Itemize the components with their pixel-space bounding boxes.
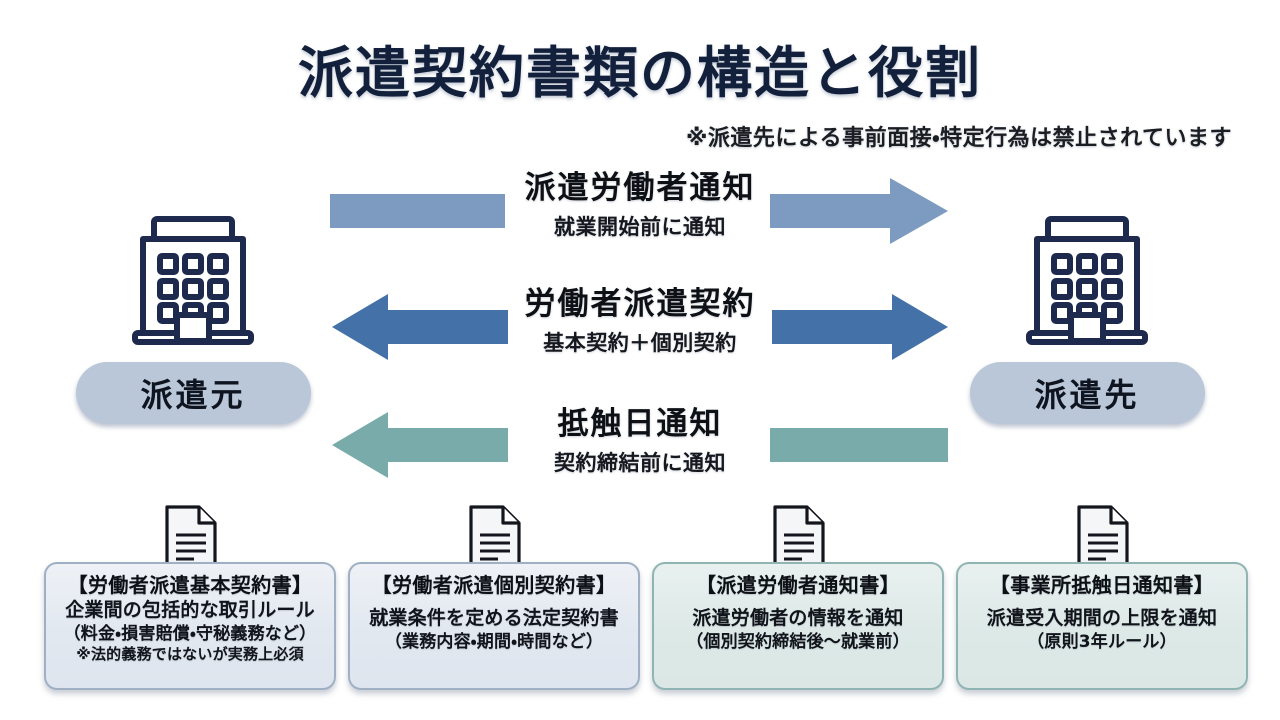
- entity-left-pill: 派遣元: [76, 362, 311, 424]
- entity-left-label: 派遣元: [140, 370, 245, 416]
- document-card-line: 就業条件を定める法定契約書: [350, 606, 638, 631]
- document-card-line: （料金・損害賠償・守秘義務など）: [46, 623, 334, 645]
- entity-right: 派遣先: [962, 200, 1212, 424]
- document-card-title: 【派遣労働者通知書】: [654, 573, 942, 598]
- document-card-line: 派遣労働者の情報を通知: [654, 606, 942, 631]
- header-note: ※派遣先による事前面接・特定行為は禁止されています: [686, 120, 1232, 152]
- office-building-icon: [68, 200, 318, 350]
- office-building-icon: [962, 200, 1212, 350]
- infographic-slide: 派遣契約書類の構造と役割 ※派遣先による事前面接・特定行為は禁止されています: [0, 0, 1280, 720]
- document-card: 【事業所抵触日通知書】 派遣受入期間の上限を通知 （原則3年ルール）: [956, 562, 1248, 690]
- document-icon: [1075, 504, 1131, 570]
- document-card-line: 派遣受入期間の上限を通知: [958, 606, 1246, 631]
- document-icon: [163, 504, 219, 570]
- document-icon: [771, 504, 827, 570]
- document-card-title: 【労働者派遣基本契約書】: [46, 573, 334, 598]
- entity-right-pill: 派遣先: [970, 362, 1205, 424]
- page-title: 派遣契約書類の構造と役割: [0, 28, 1280, 108]
- document-card: 【労働者派遣基本契約書】 企業間の包括的な取引ルール （料金・損害賠償・守秘義務…: [44, 562, 336, 690]
- document-card: 【派遣労働者通知書】 派遣労働者の情報を通知 （個別契約締結後～就業前）: [652, 562, 944, 690]
- flow-row-dispatch-worker-notice: 派遣労働者通知 就業開始前に通知: [330, 172, 950, 268]
- document-card-line: （個別契約締結後～就業前）: [654, 631, 942, 653]
- document-card: 【労働者派遣個別契約書】 就業条件を定める法定契約書 （業務内容・期間・時間など…: [348, 562, 640, 690]
- entity-right-label: 派遣先: [1034, 370, 1139, 416]
- document-card-title: 【事業所抵触日通知書】: [958, 573, 1246, 598]
- flow-row-conflict-date-notice: 抵触日通知 契約締結前に通知: [330, 408, 950, 504]
- document-icon: [467, 504, 523, 570]
- arrow-both-icon: [330, 288, 950, 384]
- document-card-line: 企業間の包括的な取引ルール: [46, 598, 334, 623]
- document-card-note: ※法的義務ではないが実務上必須: [46, 645, 334, 665]
- arrow-right-icon: [330, 172, 950, 268]
- document-card-title: 【労働者派遣個別契約書】: [350, 573, 638, 598]
- document-card-line: （原則3年ルール）: [958, 631, 1246, 653]
- entity-left: 派遣元: [68, 200, 318, 424]
- arrow-left-icon: [330, 408, 950, 504]
- flow-row-worker-dispatch-contract: 労働者派遣契約 基本契約＋個別契約: [330, 288, 950, 384]
- document-card-line: （業務内容・期間・時間など）: [350, 631, 638, 653]
